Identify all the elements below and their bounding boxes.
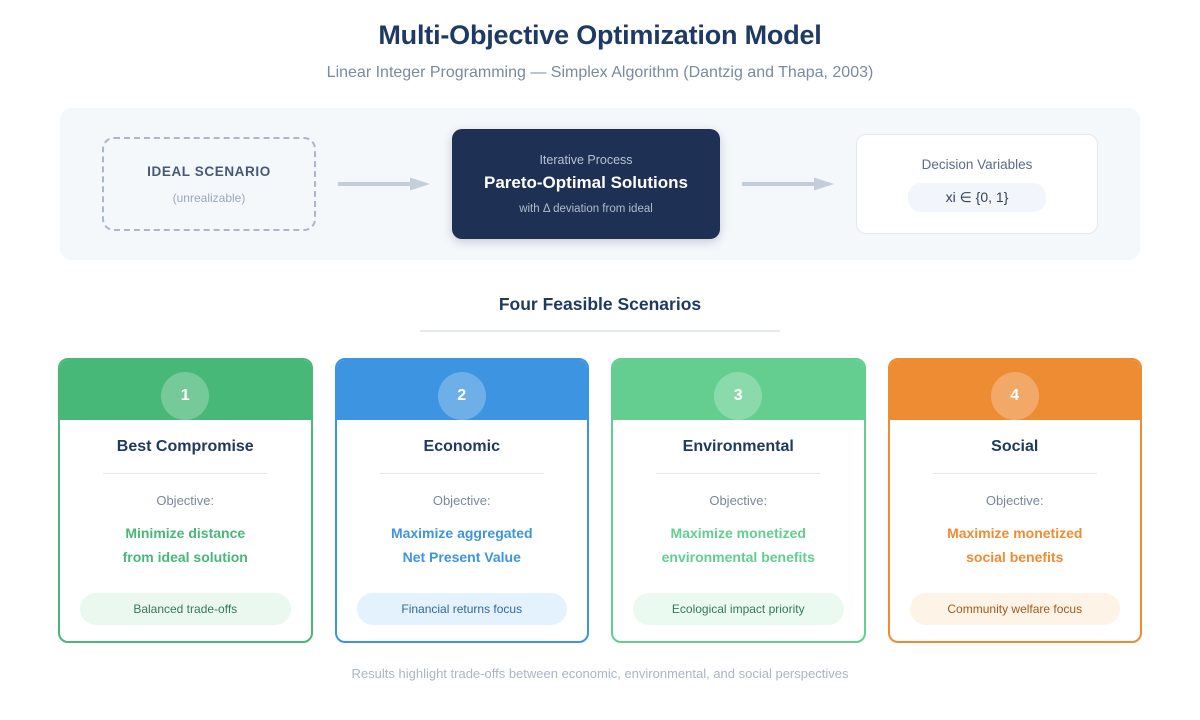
decision-variables-box: Decision Variables xi ∈ {0, 1} (856, 134, 1098, 234)
page-subtitle: Linear Integer Programming — Simplex Alg… (0, 64, 1200, 82)
card-tag: Ecological impact priority (633, 593, 844, 625)
card-objective-text: Maximize aggregated Net Present Value (391, 521, 533, 569)
card-objective-line1: Maximize aggregated (391, 521, 533, 545)
card-body-2: Economic Objective: Maximize aggregated … (337, 420, 588, 641)
card-divider (656, 473, 820, 474)
card-divider (103, 473, 267, 474)
card-title: Best Compromise (117, 438, 254, 456)
process-kicker: Iterative Process (539, 153, 632, 167)
card-header-1: 1 (60, 360, 311, 420)
card-objective-line1: Minimize distance (123, 521, 248, 545)
card-header-2: 2 (337, 360, 588, 420)
ideal-scenario-note: (unrealizable) (173, 191, 246, 205)
card-objective-label: Objective: (709, 493, 767, 508)
card-objective-line2: Net Present Value (391, 545, 533, 569)
card-title: Environmental (683, 438, 794, 456)
card-number-badge: 1 (161, 372, 209, 420)
card-tag: Balanced trade-offs (80, 593, 291, 625)
ideal-scenario-box: IDEAL SCENARIO (unrealizable) (102, 137, 316, 231)
decision-variables-formula: xi ∈ {0, 1} (908, 183, 1047, 212)
section-title: Four Feasible Scenarios (0, 294, 1200, 315)
scenario-cards: 1 Best Compromise Objective: Minimize di… (0, 358, 1200, 643)
page-title: Multi-Objective Optimization Model (0, 20, 1200, 51)
scenario-card-2[interactable]: 2 Economic Objective: Maximize aggregate… (335, 358, 590, 643)
ideal-scenario-title: IDEAL SCENARIO (147, 164, 271, 179)
card-objective-label: Objective: (986, 493, 1044, 508)
process-title: Pareto-Optimal Solutions (484, 173, 688, 193)
card-objective-label: Objective: (433, 493, 491, 508)
card-objective-line1: Maximize monetized (662, 521, 815, 545)
card-objective-text: Maximize monetized social benefits (947, 521, 1082, 569)
scenario-card-3[interactable]: 3 Environmental Objective: Maximize mone… (611, 358, 866, 643)
arrow-right-icon (742, 177, 834, 191)
process-note: with Δ deviation from ideal (519, 203, 653, 215)
scenario-card-1[interactable]: 1 Best Compromise Objective: Minimize di… (58, 358, 313, 643)
flow-diagram-panel: IDEAL SCENARIO (unrealizable) Iterative … (60, 108, 1140, 260)
card-objective-line1: Maximize monetized (947, 521, 1082, 545)
card-body-1: Best Compromise Objective: Minimize dist… (60, 420, 311, 641)
card-divider (933, 473, 1097, 474)
card-tag: Financial returns focus (357, 593, 568, 625)
pareto-process-box: Iterative Process Pareto-Optimal Solutio… (452, 129, 720, 239)
card-objective-text: Maximize monetized environmental benefit… (662, 521, 815, 569)
card-divider (380, 473, 544, 474)
card-header-4: 4 (890, 360, 1141, 420)
card-number-badge: 4 (991, 372, 1039, 420)
card-body-3: Environmental Objective: Maximize moneti… (613, 420, 864, 641)
card-tag: Community welfare focus (910, 593, 1121, 625)
page-root: Multi-Objective Optimization Model Linea… (0, 0, 1200, 720)
section-divider (420, 330, 780, 332)
footer-note: Results highlight trade-offs between eco… (0, 666, 1200, 681)
card-objective-label: Objective: (156, 493, 214, 508)
card-objective-line2: social benefits (947, 545, 1082, 569)
page-header: Multi-Objective Optimization Model Linea… (0, 0, 1200, 82)
scenario-card-4[interactable]: 4 Social Objective: Maximize monetized s… (888, 358, 1143, 643)
card-objective-text: Minimize distance from ideal solution (123, 521, 248, 569)
card-header-3: 3 (613, 360, 864, 420)
scenarios-section-header: Four Feasible Scenarios (0, 294, 1200, 332)
card-number-badge: 3 (714, 372, 762, 420)
card-objective-line2: from ideal solution (123, 545, 248, 569)
arrow-right-icon (338, 177, 430, 191)
card-body-4: Social Objective: Maximize monetized soc… (890, 420, 1141, 641)
decision-variables-title: Decision Variables (922, 157, 1033, 172)
card-title: Economic (424, 438, 500, 456)
card-objective-line2: environmental benefits (662, 545, 815, 569)
card-title: Social (991, 438, 1038, 456)
card-number-badge: 2 (438, 372, 486, 420)
